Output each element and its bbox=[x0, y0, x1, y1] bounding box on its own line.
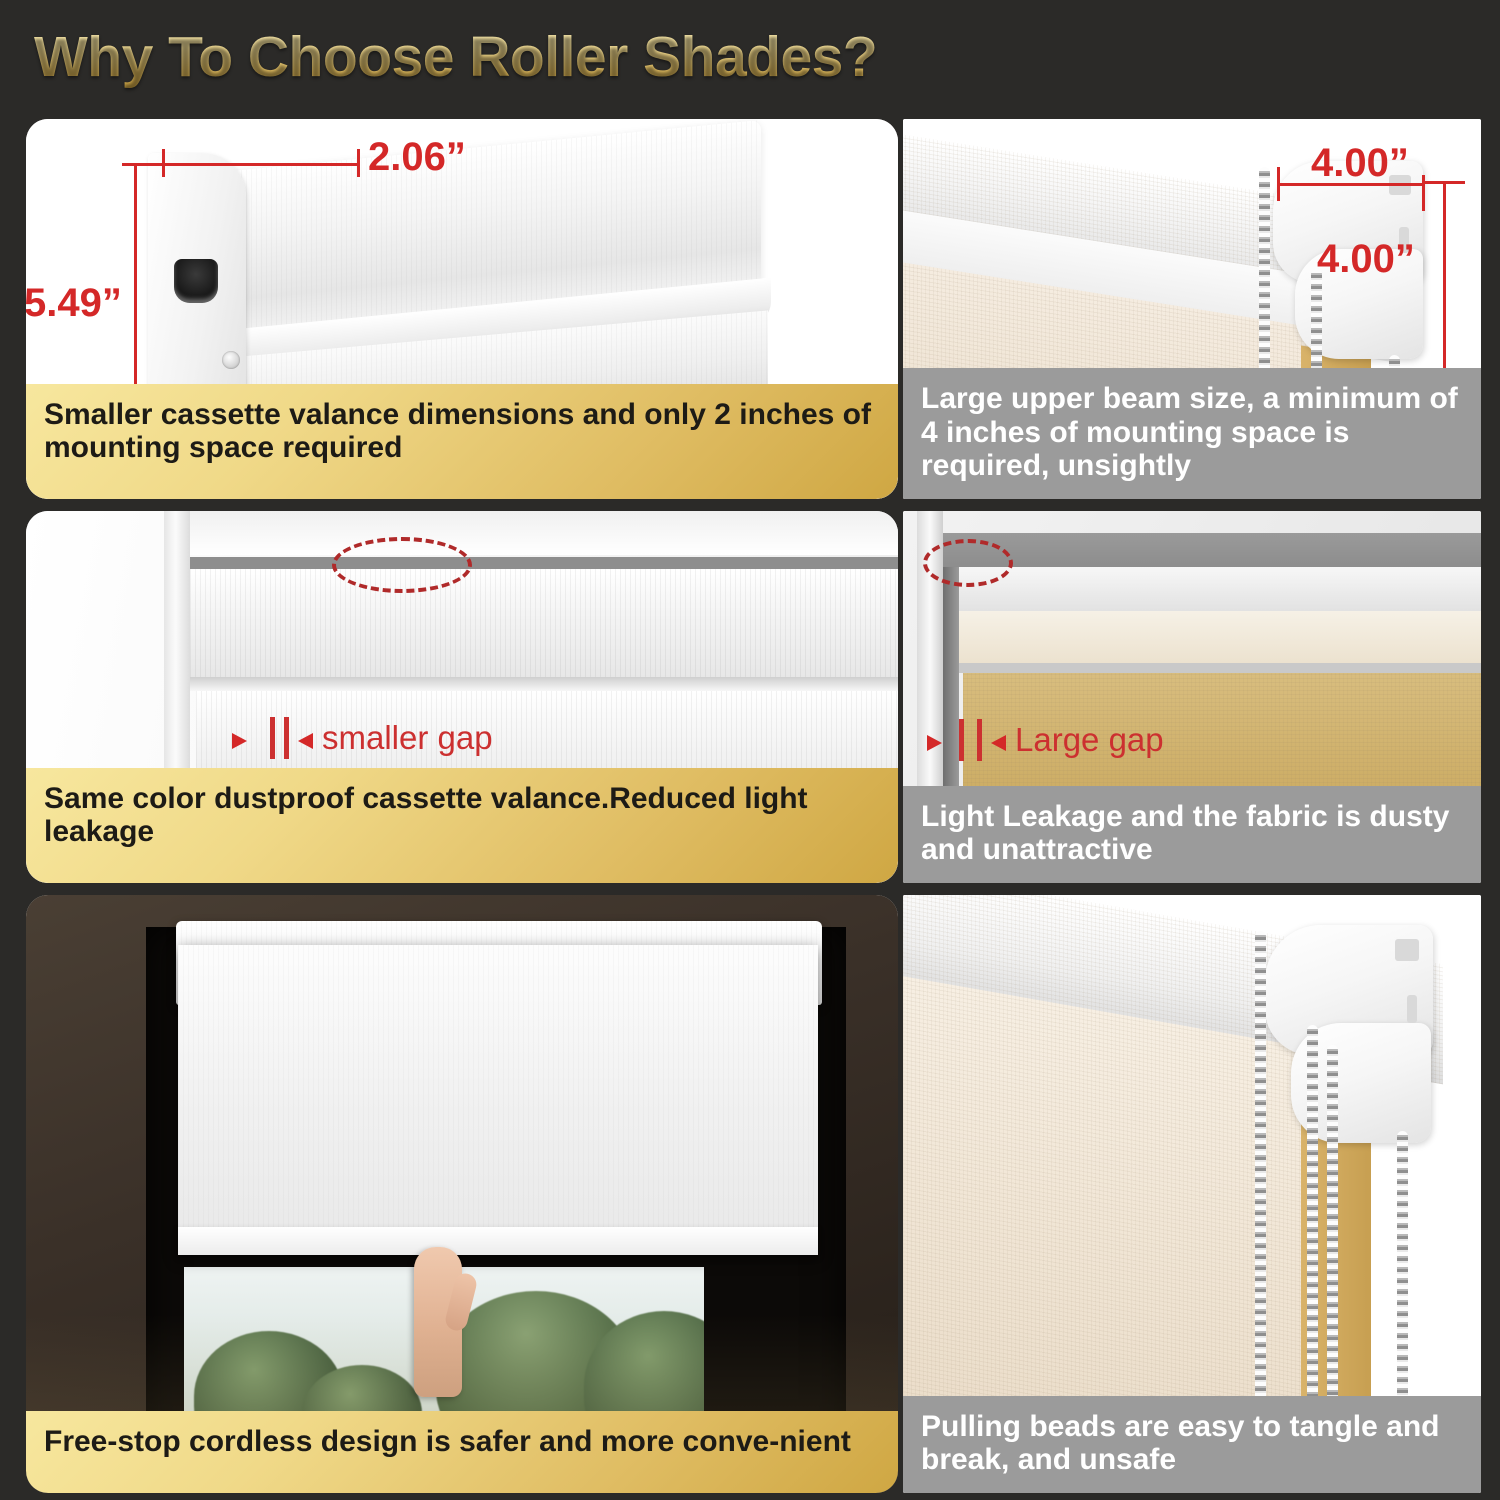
dimension-label-height: 4.00” bbox=[1317, 237, 1415, 282]
panel-con-beam-size: 4.00” 4.00” Large upper beam size, a min… bbox=[903, 119, 1481, 499]
caption-pro-cassette-size: Smaller cassette valance dimensions and … bbox=[26, 384, 898, 499]
dimension-line-height bbox=[1443, 181, 1446, 371]
panel-pro-small-gap: smaller gap Same color dustproof cassett… bbox=[26, 511, 898, 883]
dimension-tick bbox=[1425, 181, 1465, 184]
bead-chain[interactable] bbox=[1307, 1025, 1318, 1431]
dimension-label-width: 2.06” bbox=[368, 135, 466, 180]
dimension-tick bbox=[357, 149, 360, 177]
bracket-notch bbox=[1395, 939, 1419, 961]
valance-shadow-line bbox=[190, 557, 898, 569]
gap-label-large: Large gap bbox=[1015, 721, 1164, 759]
highlight-ellipse bbox=[332, 537, 472, 593]
gap-marker bbox=[284, 717, 289, 759]
panel-pro-cassette-size: 2.06” 5.49” Smaller cassette valance dim… bbox=[26, 119, 898, 499]
gap-marker bbox=[959, 719, 964, 761]
caption-pro-cordless: Free-stop cordless design is safer and m… bbox=[26, 1411, 898, 1493]
caption-con-beam-size: Large upper beam size, a minimum of 4 in… bbox=[903, 368, 1481, 499]
beam-top-shadow bbox=[943, 533, 1481, 567]
gap-arrow-right-icon bbox=[927, 735, 942, 751]
comparison-grid: 2.06” 5.49” Smaller cassette valance dim… bbox=[0, 113, 1500, 1500]
bead-chain[interactable] bbox=[1327, 1045, 1338, 1431]
room-shade-fabric bbox=[178, 945, 818, 1255]
room-window-photo bbox=[26, 895, 898, 1493]
screw-icon bbox=[222, 351, 240, 369]
caption-con-large-gap: Light Leakage and the fabric is dusty an… bbox=[903, 786, 1481, 883]
dimension-label-height: 5.49” bbox=[26, 281, 122, 326]
panel-pro-cordless: Free-stop cordless design is safer and m… bbox=[26, 895, 898, 1493]
panel-con-bead-chain: Pulling beads are easy to tangle and bre… bbox=[903, 895, 1481, 1493]
fabric-edge bbox=[955, 663, 1481, 673]
gap-dark-edge bbox=[943, 567, 959, 817]
page-title: Why To Choose Roller Shades? bbox=[34, 24, 877, 90]
gap-arrow-right-icon bbox=[232, 733, 247, 749]
dimension-label-width: 4.00” bbox=[1311, 141, 1409, 186]
dimension-tick bbox=[1277, 167, 1280, 201]
gap-arrow-left-icon bbox=[991, 735, 1006, 751]
highlight-ellipse bbox=[923, 539, 1013, 587]
caption-pro-small-gap: Same color dustproof cassette valance.Re… bbox=[26, 768, 898, 883]
caption-con-bead-chain: Pulling beads are easy to tangle and bre… bbox=[903, 1396, 1481, 1493]
panel-con-large-gap: Large gap Light Leakage and the fabric i… bbox=[903, 511, 1481, 883]
window-frame-top bbox=[164, 511, 898, 555]
beam-face bbox=[943, 567, 1481, 611]
cassette-valance-face bbox=[190, 569, 898, 677]
gap-marker bbox=[270, 717, 275, 759]
gap-marker bbox=[977, 719, 982, 761]
dimension-line-width bbox=[162, 163, 360, 166]
gap-label-smaller: smaller gap bbox=[322, 719, 493, 757]
valance-edge bbox=[190, 677, 898, 691]
bracket-notch bbox=[1407, 995, 1417, 1023]
bead-chain[interactable] bbox=[1397, 1131, 1408, 1431]
dimension-tick bbox=[122, 163, 168, 166]
fabric-roll bbox=[955, 611, 1481, 663]
valance-slot bbox=[174, 259, 218, 303]
gap-arrow-left-icon bbox=[298, 733, 313, 749]
shade-bottom-hem bbox=[178, 1227, 818, 1255]
bead-chain[interactable] bbox=[1255, 931, 1266, 1431]
